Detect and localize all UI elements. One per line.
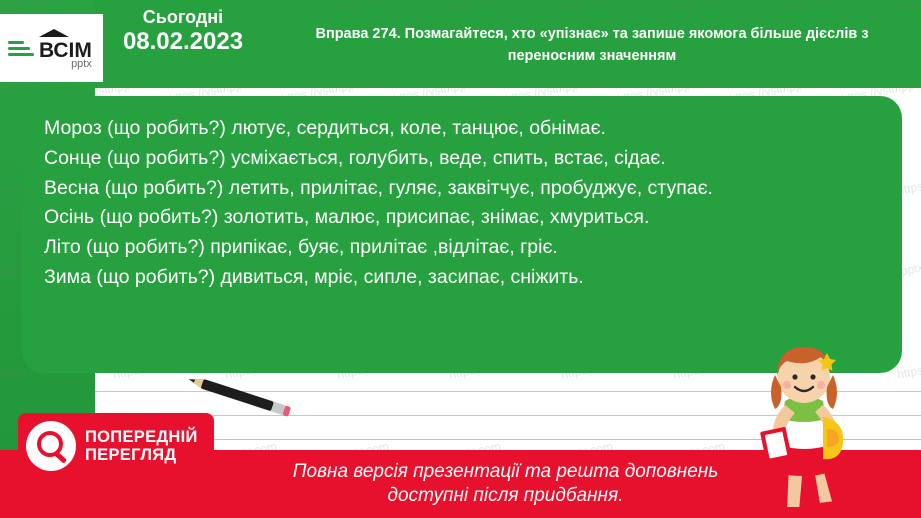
girl-character-illustration xyxy=(727,333,877,518)
graduation-cap-icon xyxy=(39,27,69,39)
answer-line: Весна (що робить?) летить, прилітає, гул… xyxy=(44,174,880,204)
date-value: 08.02.2023 xyxy=(103,28,263,57)
answer-line: Літо (що робить?) припікає, буяє, приліт… xyxy=(44,233,880,263)
magnifier-icon xyxy=(26,421,76,471)
preview-badge: ПОПЕРЕДНІЙ ПЕРЕГЛЯД xyxy=(18,413,214,479)
answer-line: Зима (що робить?) дивиться, мріє, сипле,… xyxy=(44,263,880,293)
logo-lines-icon xyxy=(8,38,34,59)
purchase-notice-line2: доступні після придбання. xyxy=(293,484,718,508)
preview-badge-line1: ПОПЕРЕДНІЙ xyxy=(85,428,198,446)
purchase-notice-line1: Повна версія презентації та решта доповн… xyxy=(293,460,718,484)
date-badge: Сьогодні 08.02.2023 xyxy=(103,0,263,82)
slide-canvas: п с ВСІМ pptx Сьогодні 08.02.2023 Вправа… xyxy=(0,0,921,518)
answer-line: Сонце (що робить?) усміхається, голубить… xyxy=(44,144,880,174)
today-label: Сьогодні xyxy=(103,8,263,28)
exercise-answers-box: Мороз (що робить?) лютує, сердиться, кол… xyxy=(22,96,902,373)
answer-line: Осінь (що робить?) золотить, малює, прис… xyxy=(44,203,880,233)
preview-badge-line2: ПЕРЕГЛЯД xyxy=(85,446,198,464)
page-title: Вправа 274. Позмагайтеся, хто «упізнає» … xyxy=(263,24,921,68)
answer-line: Мороз (що робить?) лютує, сердиться, кол… xyxy=(44,114,880,144)
